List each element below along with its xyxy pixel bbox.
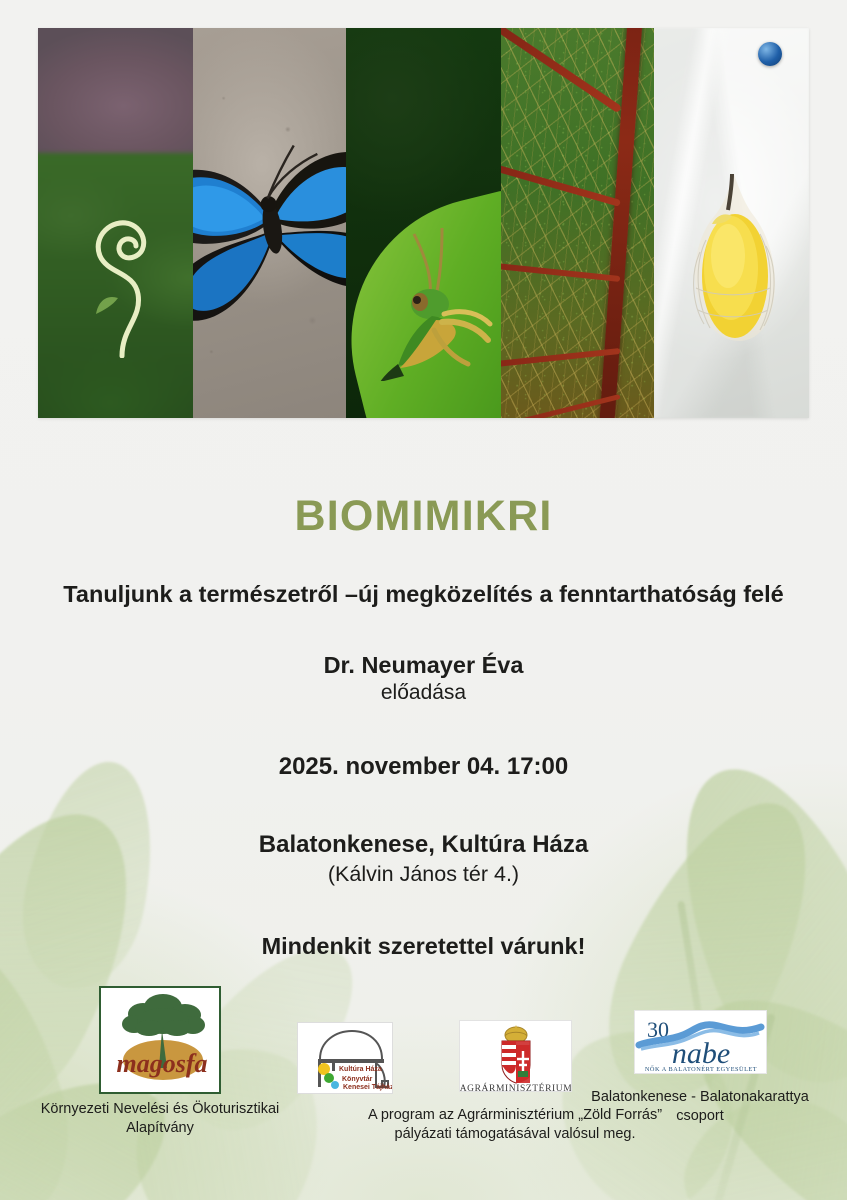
plant-tendril-spiral-photo: [38, 28, 193, 418]
butterfly-icon: [193, 140, 346, 325]
nabe-wave-logo: 30 nabe NŐK A BALATONÉRT EGYESÜLET: [634, 1010, 767, 1074]
yellow-silk-cocoon-photo: [654, 28, 809, 418]
spiral-tendril-icon: [78, 178, 168, 358]
agrar-logo-art: AGRÁRMINISZTÉRIUM: [460, 1021, 572, 1092]
magosfa-tree-logo: magosfa: [99, 986, 221, 1094]
sponsor-magosfa: magosfa Környezeti Nevelési és Ökoturisz…: [35, 986, 285, 1137]
grasshopper-on-leaf-photo: [346, 28, 501, 418]
blue-pin-head-icon: [758, 42, 782, 66]
poster-content: BIOMIMIKRI Tanuljunk a természetről –új …: [0, 418, 847, 960]
agrar-wordmark: AGRÁRMINISZTÉRIUM: [460, 1082, 572, 1092]
venue-name: Balatonkenese, Kultúra Háza: [0, 831, 847, 859]
magosfa-logo-art: magosfa: [101, 988, 221, 1094]
event-datetime: 2025. november 04. 17:00: [0, 753, 847, 781]
speaker-role: előadása: [0, 681, 847, 705]
blue-morpho-butterfly-photo: [193, 28, 346, 418]
photo-strip: [38, 28, 809, 418]
nabe-subtext: NŐK A BALATONÉRT EGYESÜLET: [644, 1065, 756, 1073]
sponsor-row: magosfa Környezeti Nevelési és Ökoturisz…: [0, 980, 847, 1200]
speaker-name: Dr. Neumayer Éva: [0, 652, 847, 679]
sponsor-caption: Balatonkenese - Balatonakarattya csoport: [590, 1088, 810, 1125]
grasshopper-icon: [370, 196, 500, 381]
sponsor-nabe: 30 nabe NŐK A BALATONÉRT EGYESÜLET Balat…: [590, 1010, 810, 1125]
silk-cocoon-icon: [688, 168, 780, 358]
venue-address: (Kálvin János tér 4.): [0, 862, 847, 887]
sponsor-caption: Környezeti Nevelési és Ökoturisztikai Al…: [35, 1100, 285, 1137]
poster-subtitle: Tanuljunk a természetről –új megközelíté…: [0, 579, 847, 610]
magosfa-wordmark: magosfa: [117, 1049, 208, 1078]
leaf-vein-macro-photo: [501, 28, 654, 418]
page-title: BIOMIMIKRI: [0, 492, 847, 541]
welcome-message: Mindenkit szeretettel várunk!: [0, 933, 847, 960]
nabe-logo-art: 30 nabe NŐK A BALATONÉRT EGYESÜLET: [635, 1011, 767, 1074]
hungary-coat-of-arms: AGRÁRMINISZTÉRIUM: [459, 1020, 572, 1092]
